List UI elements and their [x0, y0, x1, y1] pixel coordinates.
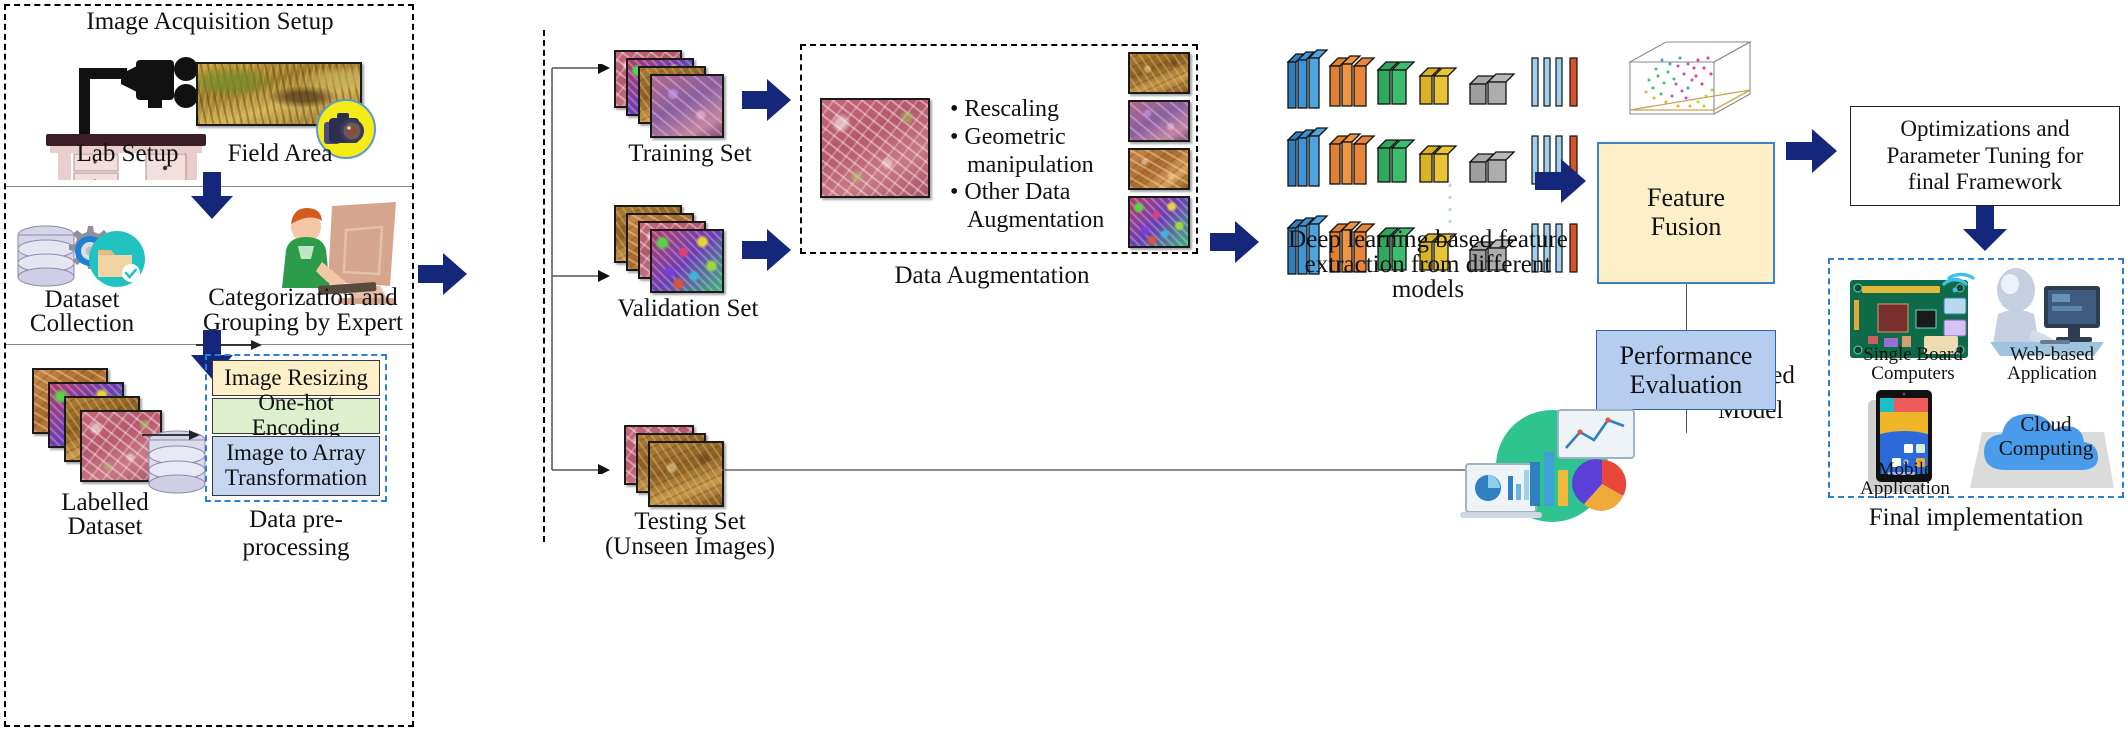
- feature-fusion-label-1: Feature: [1647, 184, 1725, 213]
- labelled-dataset-label-2: Dataset: [30, 513, 180, 541]
- arrow-optimization-to-final: [1962, 206, 2008, 252]
- analytics-dashboard-icon: [1452, 400, 1652, 530]
- testing-set-label-2: (Unseen Images): [578, 533, 802, 561]
- optimization-line-1: Optimizations and: [1900, 116, 2069, 142]
- middle-divider: [543, 30, 545, 542]
- final-item-label-web-2: Application: [1990, 363, 2114, 384]
- split-fan-connector: [548, 64, 618, 474]
- arrow-preprocessing-to-splits: [418, 252, 468, 296]
- arrow-validation-to-augmentation: [742, 228, 792, 272]
- final-implementation-caption: Final implementation: [1846, 504, 2106, 532]
- dataset-collection-label-2: Collection: [12, 310, 152, 338]
- performance-label-2: Evaluation: [1630, 370, 1743, 399]
- preprocessing-caption: Data pre-processing: [196, 506, 396, 562]
- fusion-to-chip-line: [1686, 284, 1687, 330]
- performance-evaluation-box: Performance Evaluation: [1596, 330, 1776, 410]
- feature-fusion-label-2: Fusion: [1651, 213, 1722, 242]
- field-area-label: Field Area: [210, 140, 350, 168]
- optimization-box: Optimizations and Parameter Tuning for f…: [1850, 106, 2120, 206]
- arrow-models-to-fusion: [1535, 158, 1587, 204]
- training-image-4: [650, 74, 724, 138]
- preprocessing-step-one-hot-encoding: One-hot Encoding: [212, 398, 380, 434]
- final-item-label-cloud-2: Computing: [1976, 437, 2116, 461]
- acquisition-title: Image Acquisition Setup: [60, 8, 360, 36]
- augmentation-source-image: [820, 98, 930, 198]
- augmentation-result-3: [1128, 148, 1190, 190]
- deep-learning-caption-2: extraction from different: [1218, 251, 1638, 279]
- optimization-line-2: Parameter Tuning for: [1887, 143, 2084, 169]
- validation-set-label: Validation Set: [588, 295, 788, 323]
- validation-image-4: [650, 229, 724, 293]
- preprocessing-step-image-to-array: Image to Array Transformation: [212, 436, 380, 496]
- arrow-acquisition-to-collection: [190, 172, 234, 220]
- training-set-label: Training Set: [600, 140, 780, 168]
- optimization-line-3: final Framework: [1908, 169, 2062, 195]
- final-item-label-sbc-2: Computers: [1846, 363, 1980, 384]
- arrow-training-to-augmentation: [742, 78, 792, 122]
- augmentation-result-1: [1128, 52, 1190, 94]
- performance-label-1: Performance: [1620, 341, 1753, 370]
- augmentation-result-4: [1128, 196, 1190, 248]
- testing-set-label-1: Testing Set: [590, 508, 790, 536]
- deep-learning-caption-1: Deep learning based feature: [1218, 226, 1638, 254]
- augmentation-caption: Data Augmentation: [862, 262, 1122, 290]
- arrow-fusion-to-optimization: [1786, 128, 1838, 174]
- testing-image-3: [648, 441, 724, 507]
- lab-setup-label: Lab Setup: [45, 140, 210, 168]
- augmentation-result-2: [1128, 100, 1190, 142]
- 3d-scatter-cube-icon: [1618, 36, 1758, 122]
- final-item-label-mobile-2: Application: [1842, 478, 1968, 499]
- arrow-labelled-to-steps: [142, 427, 200, 443]
- expert-label-1: Categorization and: [194, 284, 412, 312]
- feature-fusion-box: Feature Fusion: [1597, 142, 1775, 284]
- final-item-label-cloud-1: Cloud: [1986, 413, 2106, 437]
- deep-learning-caption-3: models: [1218, 276, 1638, 304]
